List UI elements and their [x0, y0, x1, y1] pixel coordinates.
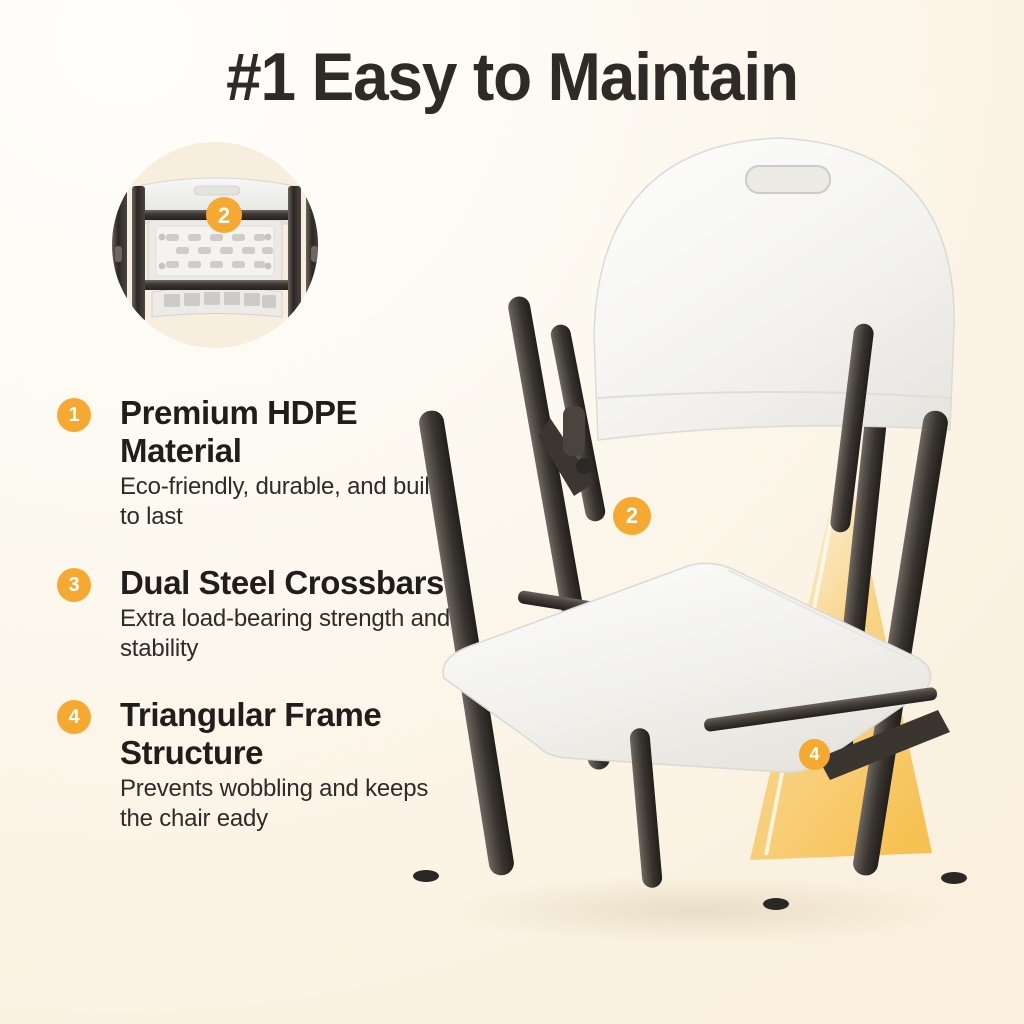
product-image-folding-chair: [398, 118, 978, 978]
feature-item-1: 1 Premium HDPE Material Eco-friendly, du…: [57, 394, 457, 532]
hotspot-badge-seat: 2: [613, 497, 651, 535]
foot-cap-left: [413, 870, 439, 882]
feature-badge-3: 3: [57, 568, 91, 602]
hinge-sleeve-left: [563, 406, 585, 456]
foot-cap-front: [763, 898, 789, 910]
feature-item-3: 3 Dual Steel Crossbars Extra load-bearin…: [57, 564, 457, 664]
inset-badge-number: 2: [218, 203, 230, 228]
feature-badge-1: 1: [57, 398, 91, 432]
feature-badge-4: 4: [57, 700, 91, 734]
backrest-handle-slot: [746, 166, 830, 193]
infographic-page: #1 Easy to Maintain: [0, 0, 1024, 1024]
hinge-pin-left: [576, 458, 592, 474]
page-title: #1 Easy to Maintain: [31, 38, 994, 116]
hotspot-badge-frame: 4: [799, 739, 830, 770]
foot-cap-right: [941, 872, 967, 884]
floor-shadow: [448, 876, 948, 944]
inset-detail-circle: 2: [112, 142, 318, 348]
inset-hotspot-badge: 2: [206, 197, 242, 233]
feature-list: 1 Premium HDPE Material Eco-friendly, du…: [57, 394, 457, 834]
feature-item-4: 4 Triangular Frame Structure Prevents wo…: [57, 696, 457, 834]
